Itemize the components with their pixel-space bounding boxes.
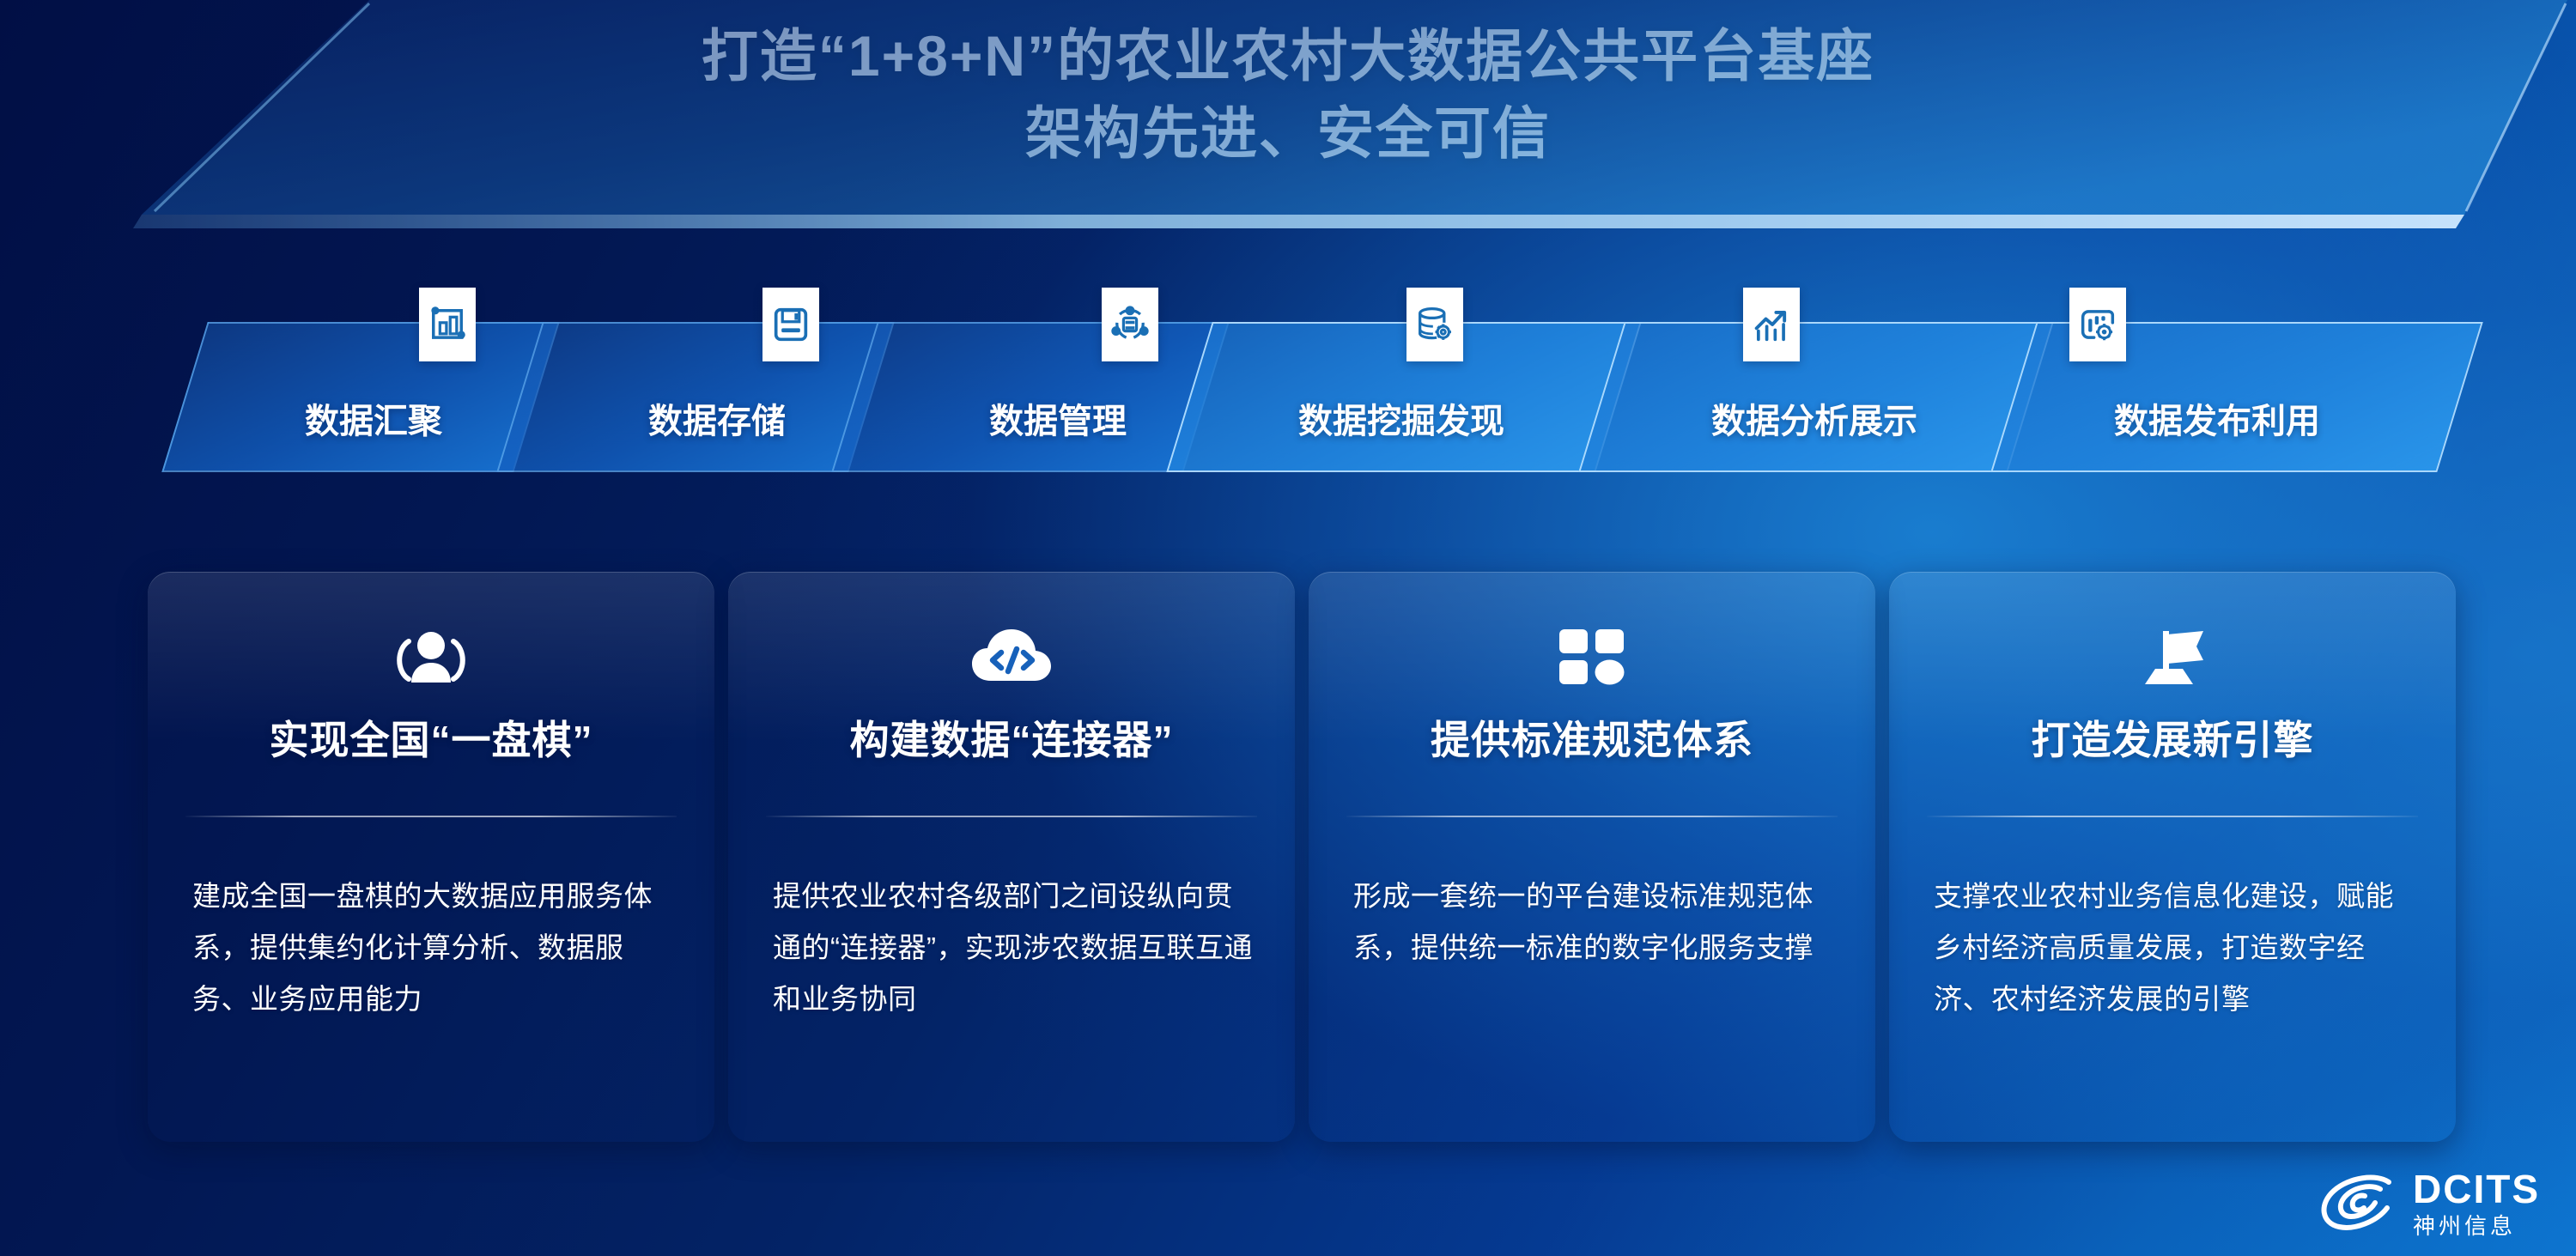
- capability-slab-3[interactable]: [1166, 322, 1642, 472]
- capability-slab-0[interactable]: [161, 322, 560, 472]
- capability-label-4: 数据分析展示: [1711, 393, 1917, 443]
- capability-label-5: 数据发布利用: [2114, 393, 2320, 443]
- data-node-network-icon: [1102, 288, 1158, 361]
- platform-slab: [0, 0, 2576, 258]
- value-card-2[interactable]: 提供标准规范体系 形成一套统一的平台建设标准规范体系，提供统一标准的数字化服务支…: [1309, 572, 1875, 1142]
- card-divider: [766, 816, 1257, 817]
- capability-label-3: 数据挖掘发现: [1298, 393, 1504, 443]
- card-divider: [1346, 816, 1838, 817]
- bar-chart-frame-icon: [419, 288, 476, 361]
- value-card-title-0: 实现全国“一盘棋”: [148, 716, 714, 764]
- database-gear-icon: [1406, 288, 1463, 361]
- value-card-3[interactable]: 打造发展新引擎 支撑农业农村业务信息化建设，赋能乡村经济高质量发展，打造数字经济…: [1889, 572, 2456, 1142]
- capability-slab-4[interactable]: [1578, 322, 2054, 472]
- brand-name-en: DCITS: [2413, 1169, 2540, 1209]
- capability-slab-5[interactable]: [1990, 322, 2483, 472]
- capability-label-1: 数据存储: [648, 393, 786, 443]
- value-card-1[interactable]: 构建数据“连接器” 提供农业农村各级部门之间设纵向贯通的“连接器”，实现涉农数据…: [728, 572, 1295, 1142]
- trend-up-bars-icon: [1743, 288, 1800, 361]
- brand-logo: DCITS 神州信息: [2317, 1169, 2540, 1237]
- grid-blocks-icon: [1309, 620, 1875, 694]
- value-card-0[interactable]: 实现全国“一盘棋” 建成全国一盘棋的大数据应用服务体系，提供集约化计算分析、数据…: [148, 572, 714, 1142]
- report-gear-icon: [2069, 288, 2126, 361]
- dcits-swirl-icon: [2317, 1172, 2399, 1235]
- cloud-code-icon: [728, 620, 1295, 694]
- value-card-row: 实现全国“一盘棋” 建成全国一盘棋的大数据应用服务体系，提供集约化计算分析、数据…: [0, 572, 2576, 1147]
- brand-name-cn: 神州信息: [2413, 1215, 2540, 1237]
- card-divider: [1927, 816, 2418, 817]
- capability-label-2: 数据管理: [989, 393, 1127, 443]
- capability-band: 数据汇聚 数据存储: [0, 283, 2576, 541]
- value-card-body-3: 支撑农业农村业务信息化建设，赋能乡村经济高质量发展，打造数字经济、农村经济发展的…: [1934, 871, 2415, 1025]
- value-card-body-0: 建成全国一盘棋的大数据应用服务体系，提供集约化计算分析、数据服务、业务应用能力: [192, 871, 673, 1025]
- users-group-icon: [148, 620, 714, 694]
- card-divider: [185, 816, 677, 817]
- value-card-body-1: 提供农业农村各级部门之间设纵向贯通的“连接器”，实现涉农数据互联互通和业务协同: [773, 871, 1254, 1025]
- value-card-title-2: 提供标准规范体系: [1309, 716, 1875, 764]
- floppy-disk-icon: [762, 288, 819, 361]
- value-card-title-3: 打造发展新引擎: [1889, 716, 2456, 764]
- value-card-title-1: 构建数据“连接器”: [728, 716, 1295, 764]
- capability-slab-2[interactable]: [831, 322, 1230, 472]
- capability-slab-1[interactable]: [496, 322, 895, 472]
- flag-icon: [1889, 620, 2456, 694]
- brand-text: DCITS 神州信息: [2413, 1169, 2540, 1237]
- value-card-body-2: 形成一套统一的平台建设标准规范体系，提供统一标准的数字化服务支撑: [1353, 871, 1834, 974]
- capability-label-0: 数据汇聚: [305, 393, 442, 443]
- slide-canvas: 打造“1+8+N”的农业农村大数据公共平台基座 架构先进、安全可信: [0, 0, 2576, 1256]
